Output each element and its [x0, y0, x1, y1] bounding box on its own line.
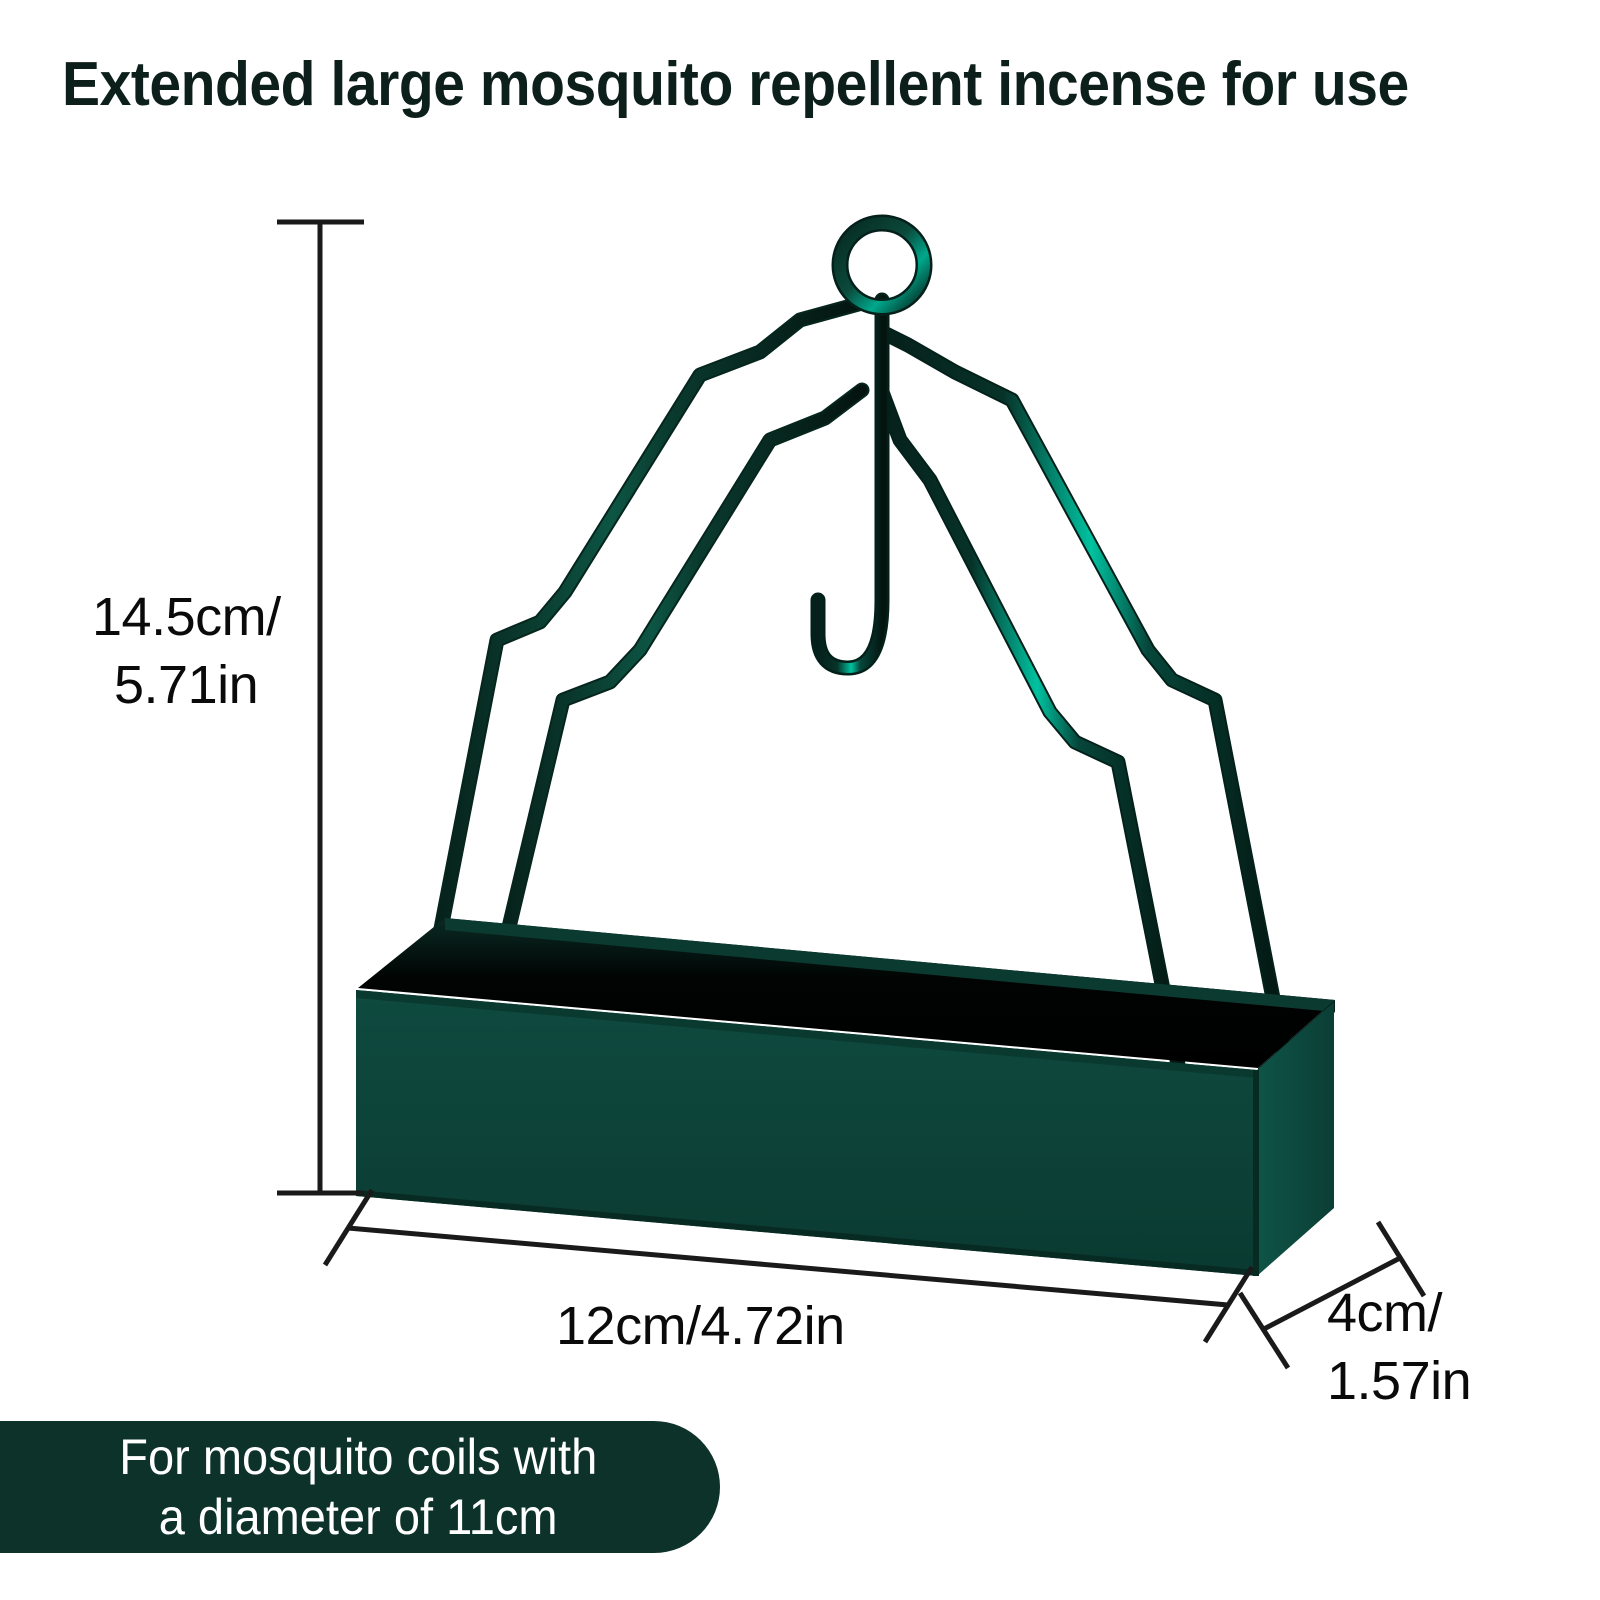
height-dimension-line — [277, 222, 364, 1193]
tray-box — [356, 918, 1335, 1276]
depth-label-in: 1.57in — [1327, 1347, 1471, 1415]
coil-diameter-banner: For mosquito coils with a diameter of 11… — [0, 1421, 720, 1553]
height-label-cm: 14.5cm/ — [92, 587, 281, 647]
product-dimension-diagram: Extended large mosquito repellent incens… — [0, 0, 1600, 1600]
right-wire-frame — [882, 332, 1285, 1075]
height-dimension-label: 14.5cm/ 5.71in — [92, 583, 281, 719]
depth-dimension-label: 4cm/ 1.57in — [1327, 1279, 1471, 1415]
depth-label-cm: 4cm/ — [1327, 1283, 1442, 1343]
banner-line-1: For mosquito coils with — [119, 1427, 597, 1487]
left-wire-frame — [432, 303, 862, 975]
banner-line-2: a diameter of 11cm — [159, 1487, 558, 1547]
center-hook — [818, 300, 882, 668]
height-label-in: 5.71in — [92, 651, 281, 719]
width-dimension-label: 12cm/4.72in — [556, 1295, 845, 1357]
